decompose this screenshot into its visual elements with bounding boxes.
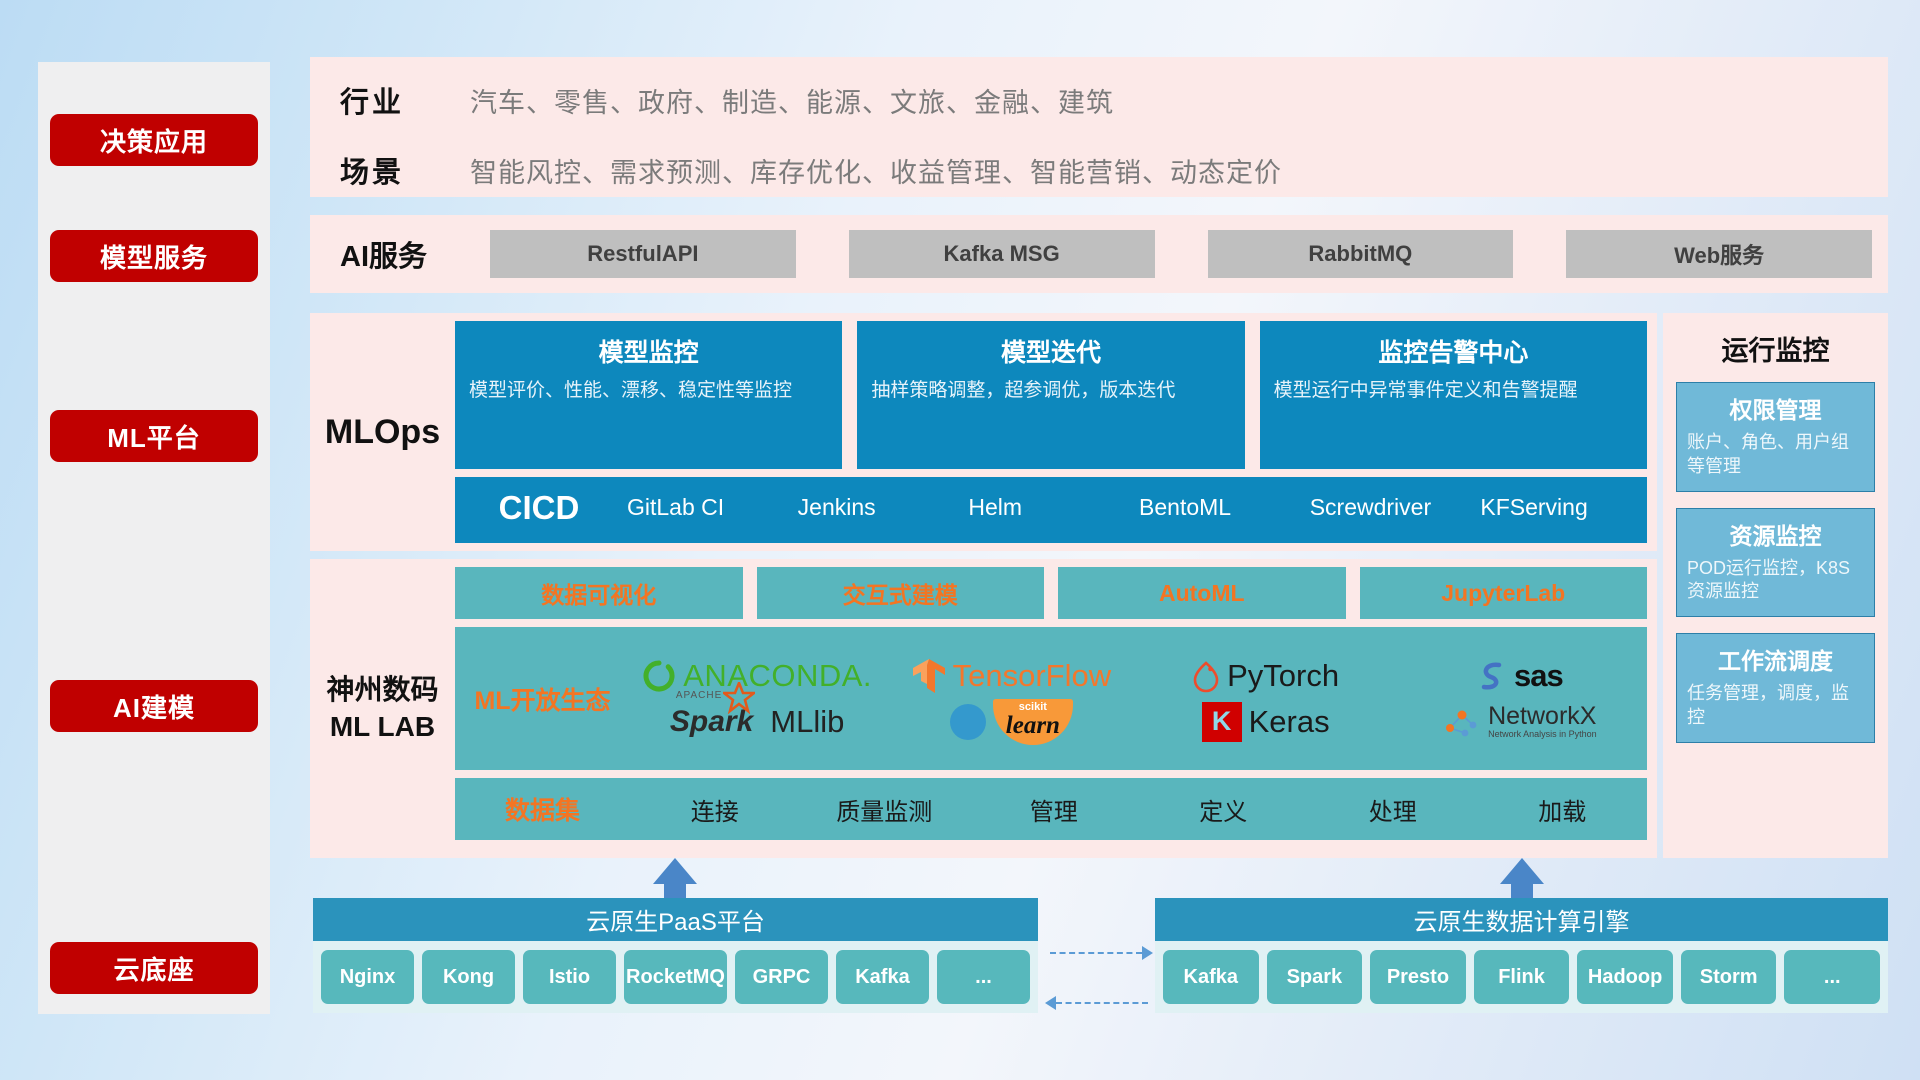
dataset-label: 数据集	[455, 791, 630, 827]
ai-service-label: AI服务	[340, 233, 490, 275]
arrow-up-paas	[653, 858, 697, 884]
ai-service-band: AI服务 RestfulAPI Kafka MSG RabbitMQ Web服务	[310, 215, 1888, 293]
scikit-text: scikit	[1006, 702, 1060, 713]
mlops-card-model-monitoring[interactable]: 模型监控 模型评价、性能、漂移、稳定性等监控	[455, 321, 842, 469]
layer-rail: 决策应用 模型服务 ML平台 AI建模 云底座	[38, 62, 270, 1014]
engine-chip-spark[interactable]: Spark	[1267, 950, 1363, 1004]
service-chip-kafka-msg[interactable]: Kafka MSG	[849, 230, 1155, 278]
industry-row: 行业 汽车、零售、政府、制造、能源、文旅、金融、建筑	[310, 65, 1888, 135]
card-title: 模型迭代	[871, 333, 1230, 369]
monitor-card-resource[interactable]: 资源监控 POD运行监控，K8S资源监控	[1676, 508, 1875, 618]
paas-chip-more[interactable]: ...	[937, 950, 1030, 1004]
scikit-blue-blob-icon	[950, 704, 986, 740]
rail-label: 决策应用	[100, 122, 208, 159]
engine-chip-storm[interactable]: Storm	[1681, 950, 1777, 1004]
tool-chip-interactive-modeling[interactable]: 交互式建模	[757, 567, 1045, 619]
paas-chip-istio[interactable]: Istio	[523, 950, 616, 1004]
dataset-item-connect[interactable]: 连接	[630, 792, 800, 827]
ai-service-chip-group: RestfulAPI Kafka MSG RabbitMQ Web服务	[490, 230, 1888, 278]
paas-chip-group: Nginx Kong Istio RocketMQ GRPC Kafka ...	[313, 941, 1038, 1013]
pytorch-logo: PyTorch	[1192, 658, 1339, 694]
service-chip-rabbitmq[interactable]: RabbitMQ	[1208, 230, 1514, 278]
pytorch-wordmark: PyTorch	[1227, 658, 1339, 694]
tensorflow-logo: TensorFlow	[912, 657, 1112, 695]
keras-k-icon: K	[1202, 702, 1242, 742]
ml-lab-label: 神州数码 ML LAB	[310, 559, 455, 858]
dataset-item-manage[interactable]: 管理	[969, 792, 1139, 827]
cloud-native-paas-group: 云原生PaaS平台 Nginx Kong Istio RocketMQ GRPC…	[313, 898, 1038, 1013]
dashed-link-left	[1056, 1002, 1148, 1004]
scenario-row: 场景 智能风控、需求预测、库存优化、收益管理、智能营销、动态定价	[310, 135, 1888, 205]
arrow-up-engine	[1500, 858, 1544, 884]
cicd-item-bentoml[interactable]: BentoML	[1135, 477, 1306, 522]
paas-chip-kafka[interactable]: Kafka	[836, 950, 929, 1004]
service-chip-web-service[interactable]: Web服务	[1566, 230, 1872, 278]
engine-chip-presto[interactable]: Presto	[1370, 950, 1466, 1004]
networkx-logo: NetworkX Network Analysis in Python	[1443, 704, 1597, 739]
rail-label: AI建模	[113, 688, 195, 725]
ml-ecosystem-row: ML开放生态 ANACONDA. TensorFlow	[455, 627, 1647, 770]
engine-chip-group: Kafka Spark Presto Flink Hadoop Storm ..…	[1155, 941, 1888, 1013]
tensorflow-icon	[912, 657, 946, 695]
tensorflow-wordmark: TensorFlow	[953, 658, 1112, 694]
card-desc: 账户、角色、用户组等管理	[1687, 431, 1864, 479]
dataset-item-load[interactable]: 加载	[1478, 792, 1648, 827]
tool-chip-data-visualization[interactable]: 数据可视化	[455, 567, 743, 619]
monitoring-title: 运行监控	[1676, 329, 1875, 368]
scenario-values: 智能风控、需求预测、库存优化、收益管理、智能营销、动态定价	[470, 151, 1282, 190]
mlops-card-group: 模型监控 模型评价、性能、漂移、稳定性等监控 模型迭代 抽样策略调整，超参调优，…	[455, 321, 1647, 469]
cicd-bar: CICD GitLab CI Jenkins Helm BentoML Scre…	[455, 477, 1647, 543]
spark-star-icon	[723, 682, 755, 719]
dashed-link-right	[1050, 952, 1142, 954]
mlops-band: MLOps 模型监控 模型评价、性能、漂移、稳定性等监控 模型迭代 抽样策略调整…	[310, 313, 1657, 551]
spark-apache-text: APACHE	[676, 690, 722, 701]
dataset-item-process[interactable]: 处理	[1308, 792, 1478, 827]
card-title: 资源监控	[1687, 517, 1864, 551]
cicd-title: CICD	[455, 477, 623, 527]
dataset-item-define[interactable]: 定义	[1139, 792, 1309, 827]
rail-item-ml-platform[interactable]: ML平台	[50, 410, 258, 462]
anaconda-icon	[642, 659, 676, 693]
scenario-label: 场景	[340, 149, 470, 191]
rail-label: 模型服务	[100, 238, 208, 275]
sas-icon	[1477, 660, 1507, 692]
dataset-item-group: 连接 质量监测 管理 定义 处理 加载	[630, 792, 1647, 827]
card-desc: 模型运行中异常事件定义和告警提醒	[1274, 378, 1633, 404]
paas-chip-nginx[interactable]: Nginx	[321, 950, 414, 1004]
mlops-card-model-iteration[interactable]: 模型迭代 抽样策略调整，超参调优，版本迭代	[857, 321, 1244, 469]
engine-chip-more[interactable]: ...	[1784, 950, 1880, 1004]
mlops-label: MLOps	[310, 313, 455, 551]
tool-chip-automl[interactable]: AutoML	[1058, 567, 1346, 619]
ml-ecosystem-label: ML开放生态	[455, 681, 630, 717]
dashed-arrow-left	[1045, 996, 1056, 1010]
paas-chip-kong[interactable]: Kong	[422, 950, 515, 1004]
cicd-item-screwdriver[interactable]: Screwdriver	[1306, 477, 1477, 522]
card-desc: 任务管理，调度，监控	[1687, 682, 1864, 730]
engine-chip-hadoop[interactable]: Hadoop	[1577, 950, 1673, 1004]
card-title: 权限管理	[1687, 391, 1864, 425]
ml-lab-line1: 神州数码	[326, 672, 438, 708]
keras-wordmark: Keras	[1249, 704, 1330, 740]
service-chip-restfulapi[interactable]: RestfulAPI	[490, 230, 796, 278]
rail-item-decision-app[interactable]: 决策应用	[50, 114, 258, 166]
card-title: 模型监控	[469, 333, 828, 369]
learn-text: learn	[1006, 713, 1060, 738]
card-title: 监控告警中心	[1274, 333, 1633, 369]
rail-label: 云底座	[113, 950, 194, 987]
mlops-content: 模型监控 模型评价、性能、漂移、稳定性等监控 模型迭代 抽样策略调整，超参调优，…	[455, 313, 1657, 551]
dataset-row: 数据集 连接 质量监测 管理 定义 处理 加载	[455, 778, 1647, 840]
sas-wordmark: sas	[1514, 658, 1563, 694]
ai-modeling-content: 数据可视化 交互式建模 AutoML JupyterLab ML开放生态 ANA…	[455, 559, 1657, 858]
monitor-card-workflow[interactable]: 工作流调度 任务管理，调度，监控	[1676, 633, 1875, 743]
paas-title: 云原生PaaS平台	[313, 898, 1038, 941]
engine-chip-kafka[interactable]: Kafka	[1163, 950, 1259, 1004]
scikit-orange-blob-icon: scikit learn	[993, 699, 1073, 745]
cloud-native-data-engine-group: 云原生数据计算引擎 Kafka Spark Presto Flink Hadoo…	[1155, 898, 1888, 1013]
modeling-tool-group: 数据可视化 交互式建模 AutoML JupyterLab	[455, 567, 1647, 619]
anaconda-wordmark: ANACONDA.	[683, 658, 872, 694]
monitor-card-permission[interactable]: 权限管理 账户、角色、用户组等管理	[1676, 382, 1875, 492]
tool-chip-jupyterlab[interactable]: JupyterLab	[1360, 567, 1648, 619]
industry-values: 汽车、零售、政府、制造、能源、文旅、金融、建筑	[470, 81, 1114, 120]
card-title: 工作流调度	[1687, 642, 1864, 676]
sas-logo: sas	[1477, 658, 1563, 694]
rail-item-ai-modeling[interactable]: AI建模	[50, 680, 258, 732]
rail-item-model-service[interactable]: 模型服务	[50, 230, 258, 282]
card-desc: 抽样策略调整，超参调优，版本迭代	[871, 378, 1230, 404]
mlops-card-alert-center[interactable]: 监控告警中心 模型运行中异常事件定义和告警提醒	[1260, 321, 1647, 469]
dataset-item-quality[interactable]: 质量监测	[800, 792, 970, 827]
spark-mllib-logo: APACHE Spark MLlib	[670, 704, 844, 740]
cicd-item-helm[interactable]: Helm	[964, 477, 1135, 522]
keras-logo: K Keras	[1202, 702, 1330, 742]
cicd-item-jenkins[interactable]: Jenkins	[794, 477, 965, 522]
networkx-wordmark: NetworkX	[1488, 704, 1597, 729]
engine-title: 云原生数据计算引擎	[1155, 898, 1888, 941]
mllib-wordmark: MLlib	[770, 704, 844, 740]
networkx-icon	[1443, 705, 1481, 739]
paas-chip-grpc[interactable]: GRPC	[735, 950, 828, 1004]
rail-item-cloud-base[interactable]: 云底座	[50, 942, 258, 994]
rail-label: ML平台	[107, 418, 201, 455]
cicd-item-gitlab-ci[interactable]: GitLab CI	[623, 477, 794, 522]
networkx-tagline: Network Analysis in Python	[1488, 729, 1597, 739]
cicd-item-kfserving[interactable]: KFServing	[1476, 477, 1647, 522]
paas-chip-rocketmq[interactable]: RocketMQ	[624, 950, 727, 1004]
ai-modeling-band: 神州数码 ML LAB 数据可视化 交互式建模 AutoML JupyterLa…	[310, 559, 1657, 858]
card-desc: POD运行监控，K8S资源监控	[1687, 557, 1864, 605]
runtime-monitoring-column: 运行监控 权限管理 账户、角色、用户组等管理 资源监控 POD运行监控，K8S资…	[1663, 313, 1888, 858]
decision-application-band: 行业 汽车、零售、政府、制造、能源、文旅、金融、建筑 场景 智能风控、需求预测、…	[310, 57, 1888, 197]
card-desc: 模型评价、性能、漂移、稳定性等监控	[469, 378, 828, 404]
ecosystem-logo-grid: ANACONDA. TensorFlow PyTorch	[630, 653, 1647, 745]
ml-lab-line2: ML LAB	[326, 709, 438, 745]
anaconda-logo: ANACONDA.	[642, 658, 872, 694]
dashed-arrow-right	[1142, 946, 1153, 960]
scikit-learn-logo: scikit learn	[950, 699, 1073, 745]
industry-label: 行业	[340, 79, 470, 121]
pytorch-icon	[1192, 659, 1220, 693]
engine-chip-flink[interactable]: Flink	[1474, 950, 1570, 1004]
